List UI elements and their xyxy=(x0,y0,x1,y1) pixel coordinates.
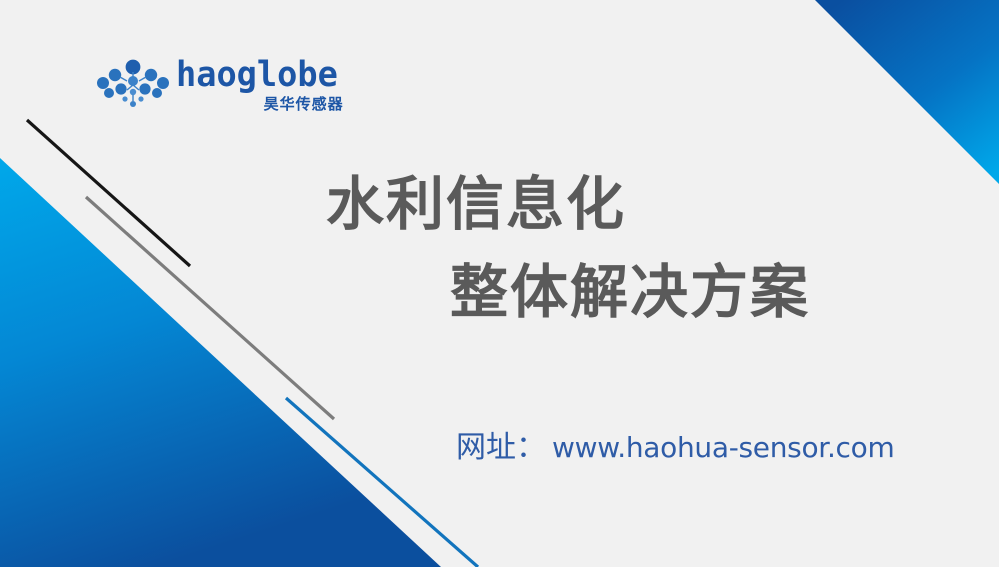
node-cluster-icon xyxy=(96,59,170,111)
website-label: 网址： xyxy=(456,422,546,466)
website-url[interactable]: www.haohua-sensor.com xyxy=(552,431,894,464)
website-line: 网址： www.haohua-sensor.com xyxy=(456,422,894,466)
presentation-slide: haoglobe 昊华传感器 水利信息化 整体解决方案 网址： www.haoh… xyxy=(0,0,999,567)
company-logo: haoglobe 昊华传感器 xyxy=(96,58,345,112)
title-line-1: 水利信息化 xyxy=(326,168,999,240)
top-right-blue-triangle xyxy=(815,0,999,184)
title-line-2: 整体解决方案 xyxy=(450,256,999,328)
logo-brand-name-cn: 昊华传感器 xyxy=(264,97,344,112)
logo-wordmark: haoglobe 昊华传感器 xyxy=(176,58,345,112)
logo-brand-name: haoglobe xyxy=(176,58,338,93)
slide-title: 水利信息化 整体解决方案 xyxy=(0,168,999,328)
